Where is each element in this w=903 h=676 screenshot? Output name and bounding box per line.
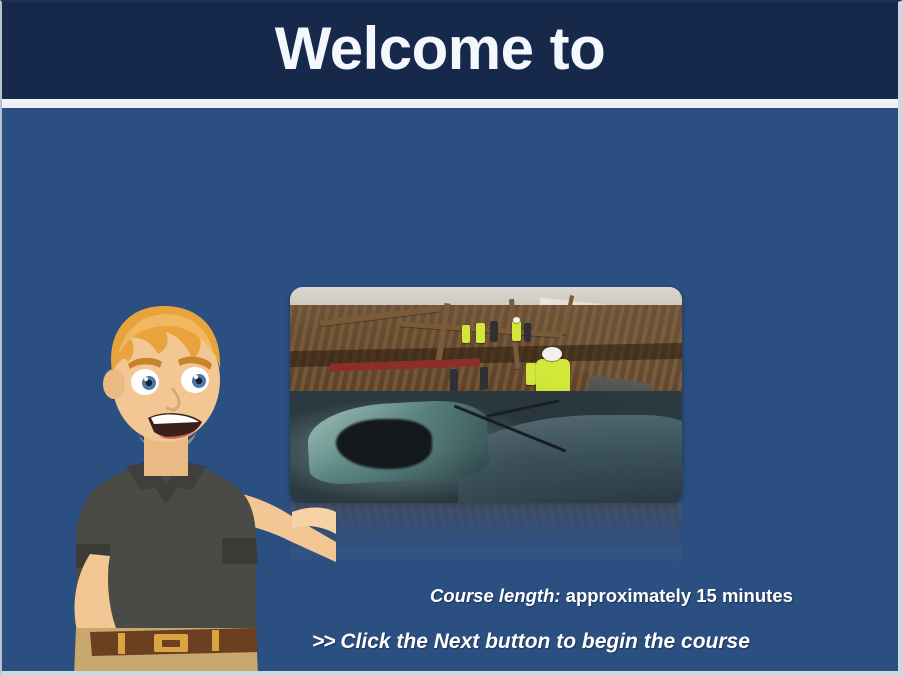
photo-reflection-sky (290, 531, 682, 565)
course-length-text: Course length: approximately 15 minutes (430, 585, 793, 607)
presenter-character (6, 276, 336, 676)
photo-reflection-inner (290, 503, 682, 565)
character-belt-loop (118, 633, 125, 654)
next-button-prompt-text: Click the Next button to begin the cours… (340, 630, 750, 653)
character-belt-loop (212, 630, 219, 651)
character-eye-glint (144, 377, 148, 381)
next-button-prompt: >> Click the Next button to begin the co… (312, 630, 750, 654)
course-length-value: approximately 15 minutes (566, 585, 793, 606)
disaster-photo (290, 287, 682, 503)
presenter-character-svg (6, 276, 336, 676)
photo-vignette (290, 287, 682, 503)
photo-reflection (290, 503, 682, 565)
photo-reflection-rubble (290, 503, 682, 547)
page-title: Welcome to (0, 6, 880, 92)
welcome-slide: Welcome to Basic Emergency Preparedness … (0, 0, 903, 676)
photo-scene (290, 287, 682, 503)
course-length-label: Course length: (430, 585, 561, 606)
chevron-right-icon: >> (312, 630, 335, 653)
character-eye-glint (194, 375, 198, 379)
header-band: Welcome to (0, 0, 903, 99)
character-belt-buckle-inner (162, 640, 180, 647)
character-ear (103, 369, 125, 399)
disaster-photo-container (290, 287, 682, 503)
character-sleeve-cuff (222, 538, 258, 564)
header-divider (0, 99, 903, 108)
photo-reflection-scene (290, 503, 682, 565)
